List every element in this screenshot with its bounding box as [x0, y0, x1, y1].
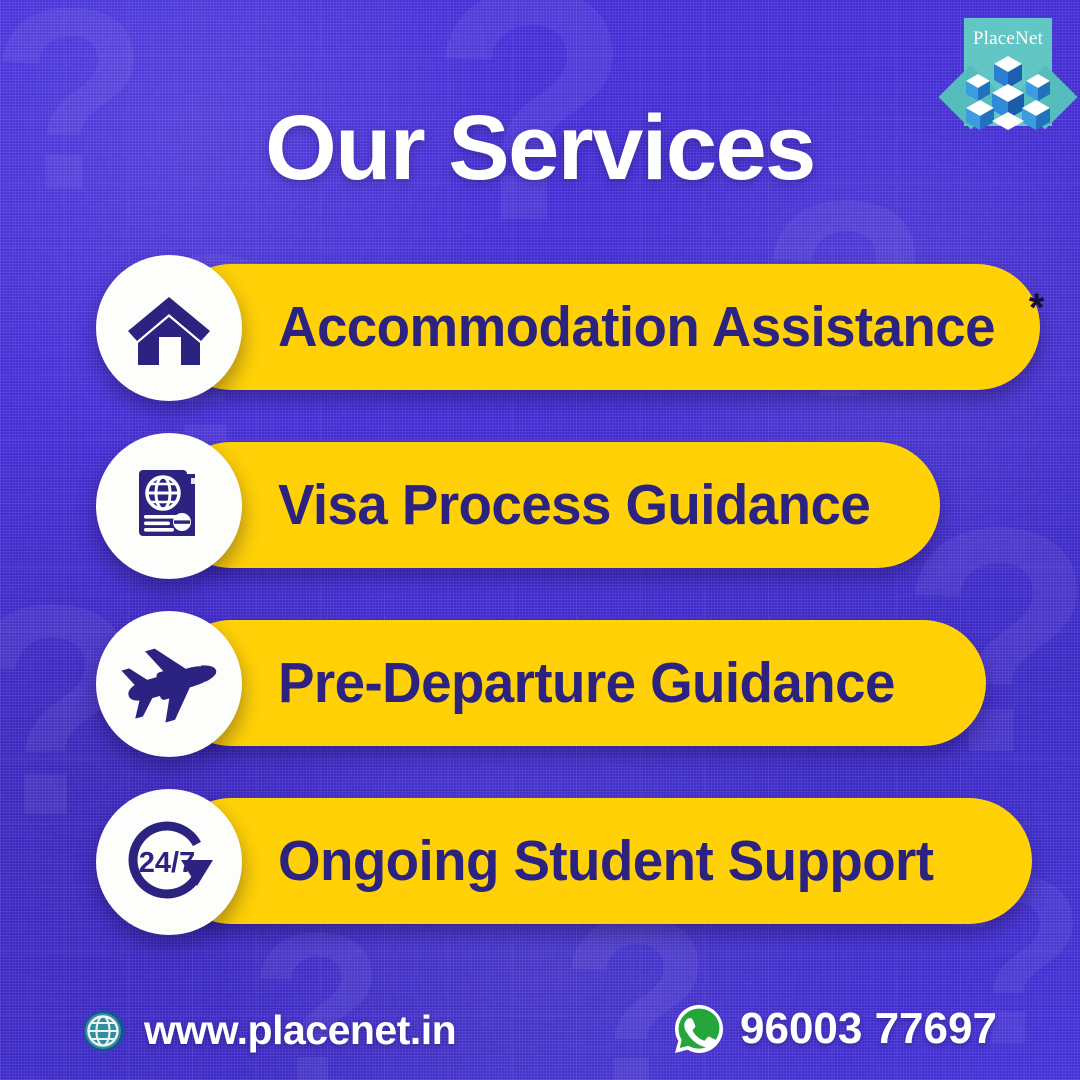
24-7-label: 24/7 [139, 847, 195, 879]
airplane-icon [119, 638, 219, 730]
service-pill-visa[interactable]: Visa Process Guidance [168, 442, 940, 568]
service-badge-accommodation [96, 255, 242, 401]
service-row-accommodation[interactable]: Accommodation Assistance * [0, 255, 1080, 433]
service-badge-support: 24/7 [96, 789, 242, 935]
service-row-support[interactable]: Ongoing Student Support 24/7 [0, 789, 1080, 967]
service-row-predeparture[interactable]: Pre-Departure Guidance [0, 611, 1080, 789]
service-pill-support[interactable]: Ongoing Student Support [168, 798, 1032, 924]
home-icon [122, 281, 216, 375]
footer-website[interactable]: www.placenet.in [82, 1007, 456, 1054]
globe-icon [82, 1009, 126, 1053]
services-list: Accommodation Assistance * Visa Process … [0, 255, 1080, 967]
whatsapp-icon [672, 1002, 726, 1056]
24-7-support-icon: 24/7 [119, 814, 219, 910]
website-url: www.placenet.in [144, 1007, 456, 1054]
passport-icon [123, 460, 215, 552]
logo-wordmark: PlaceNet [956, 28, 1060, 50]
service-badge-predeparture [96, 611, 242, 757]
service-asterisk: * [1029, 286, 1045, 331]
footer-whatsapp[interactable]: 96003 77697 [672, 1002, 997, 1056]
service-row-visa[interactable]: Visa Process Guidance [0, 433, 1080, 611]
page-title: Our Services [0, 96, 1080, 201]
service-label-predeparture: Pre-Departure Guidance [278, 650, 895, 716]
service-label-support: Ongoing Student Support [278, 828, 933, 894]
service-label-accommodation: Accommodation Assistance [278, 294, 995, 360]
poster-canvas: ? ? ? ? ? ? ? ? ? PlaceNet [0, 0, 1080, 1080]
whatsapp-number: 96003 77697 [740, 1004, 997, 1054]
service-label-visa: Visa Process Guidance [278, 472, 870, 538]
service-pill-predeparture[interactable]: Pre-Departure Guidance [168, 620, 986, 746]
service-pill-accommodation[interactable]: Accommodation Assistance * [168, 264, 1040, 390]
service-badge-visa [96, 433, 242, 579]
